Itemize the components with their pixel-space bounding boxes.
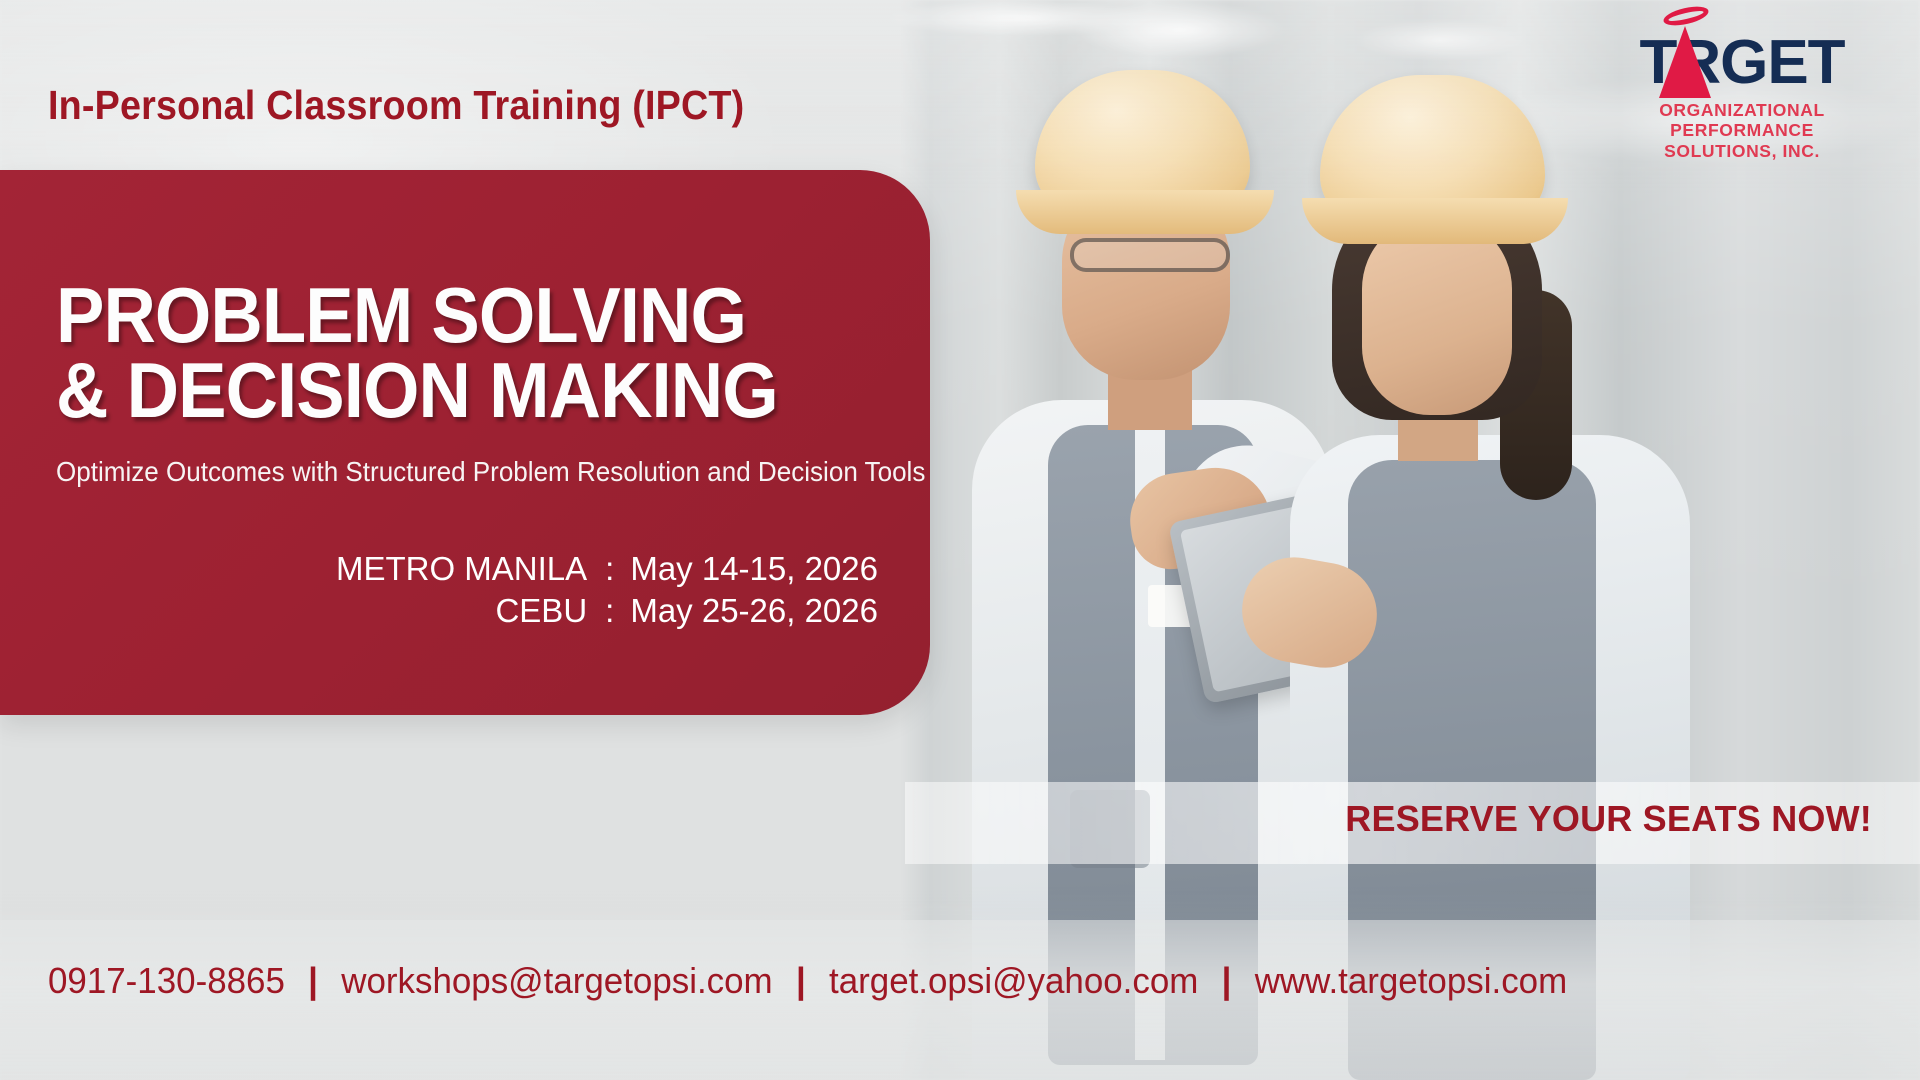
logo-tagline-line3: SOLUTIONS, INC. bbox=[1608, 141, 1876, 161]
course-title-line2: & DECISION MAKING bbox=[56, 353, 778, 428]
course-title-line1: PROBLEM SOLVING bbox=[56, 278, 778, 353]
contact-phone[interactable]: 0917-130-8865 bbox=[48, 960, 285, 1001]
contact-email-secondary[interactable]: target.opsi@yahoo.com bbox=[829, 960, 1198, 1001]
contact-separator-2: | bbox=[782, 960, 819, 1001]
schedule-date: May 25-26, 2026 bbox=[630, 590, 878, 632]
logo-tagline: ORGANIZATIONAL PERFORMANCE SOLUTIONS, IN… bbox=[1608, 100, 1876, 161]
schedule-list: METRO MANILA : May 14-15, 2026 CEBU : Ma… bbox=[336, 548, 878, 632]
schedule-date: May 14-15, 2026 bbox=[630, 548, 878, 590]
logo-halo-person-a-icon bbox=[1655, 8, 1715, 100]
reserve-seats-cta[interactable]: RESERVE YOUR SEATS NOW! bbox=[1345, 798, 1872, 840]
course-title: PROBLEM SOLVING & DECISION MAKING bbox=[56, 278, 778, 428]
logo-tagline-line2: PERFORMANCE bbox=[1608, 120, 1876, 140]
contact-separator-1: | bbox=[295, 960, 332, 1001]
logo-wordmark: TRGET bbox=[1608, 32, 1876, 94]
logo-a-triangle-icon bbox=[1659, 26, 1711, 98]
contact-separator-3: | bbox=[1208, 960, 1245, 1001]
contact-email-primary[interactable]: workshops@targetopsi.com bbox=[341, 960, 772, 1001]
schedule-separator: : bbox=[587, 548, 630, 590]
schedule-city: CEBU bbox=[495, 590, 587, 632]
logo-tagline-line1: ORGANIZATIONAL bbox=[1608, 100, 1876, 120]
company-logo: TRGET ORGANIZATIONAL PERFORMANCE SOLUTIO… bbox=[1608, 32, 1876, 161]
schedule-row-cebu: CEBU : May 25-26, 2026 bbox=[336, 590, 878, 632]
program-type-label: In-Personal Classroom Training (IPCT) bbox=[48, 82, 744, 129]
contact-website[interactable]: www.targetopsi.com bbox=[1255, 960, 1567, 1001]
schedule-city: METRO MANILA bbox=[336, 548, 587, 590]
schedule-separator: : bbox=[587, 590, 630, 632]
course-panel: PROBLEM SOLVING & DECISION MAKING Optimi… bbox=[0, 170, 930, 715]
course-subtitle: Optimize Outcomes with Structured Proble… bbox=[56, 456, 925, 488]
contact-line: 0917-130-8865 | workshops@targetopsi.com… bbox=[48, 960, 1567, 1002]
schedule-row-metro-manila: METRO MANILA : May 14-15, 2026 bbox=[336, 548, 878, 590]
